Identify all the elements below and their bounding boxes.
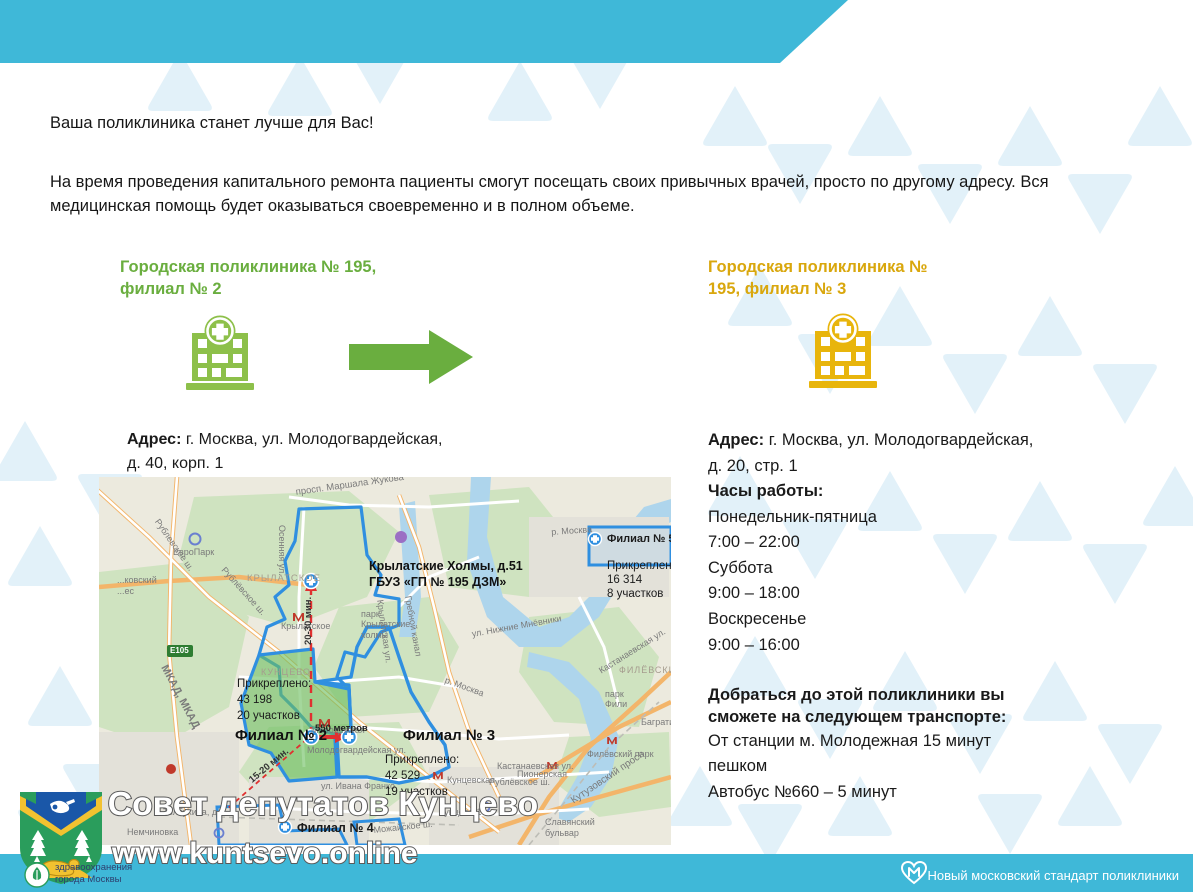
map-walk-time-main: 20-30 мин. xyxy=(303,597,314,645)
map-main-clinic-line1: Крылатские Холмы, д.51 xyxy=(369,559,523,573)
map-branch-5-areas: 8 участков xyxy=(607,587,663,602)
hours-label: Часы работы: xyxy=(708,479,1068,505)
clinic-from-title-line1: Городская поликлиника № 195, xyxy=(120,258,376,276)
clinic-to-title-line1: Городская поликлиника № xyxy=(708,258,928,276)
map-branch-5-attached-label: Прикреплено: xyxy=(607,559,671,574)
footer-label: Новый московский стандарт поликлиники xyxy=(927,868,1179,883)
map-place-europark: ЕвроПарк xyxy=(173,547,214,557)
map-branch-5-attached-count: 16 314 xyxy=(607,573,642,588)
transport-heading-line2: сможете на следующем транспорте: xyxy=(708,708,1006,726)
map-branch-3-attached-label: Прикреплено: xyxy=(385,753,459,768)
transport-line-3: Автобус №660 – 5 минут xyxy=(708,780,1068,806)
clinic-from-title-line2: филиал № 2 xyxy=(120,280,222,298)
clinic-from-title: Городская поликлиника № 195, филиал № 2 xyxy=(120,256,480,301)
hospital-icon xyxy=(180,315,260,393)
intro-text: Ваша поликлиника станет лучше для Вас! Н… xyxy=(50,112,1060,219)
hours-time-1: 7:00 – 22:00 xyxy=(708,530,1068,556)
dzm-logo-icon xyxy=(24,862,50,888)
hours-days-1: Понедельник-пятница xyxy=(708,505,1068,531)
header-bar xyxy=(0,0,844,63)
address-line-2: д. 20, стр. 1 xyxy=(708,457,798,475)
map-place-slavyansky: Славянскийбульвар xyxy=(545,817,595,839)
map-branch-3-label: Филиал № 3 xyxy=(403,727,495,744)
map-place-park-krylatskie: паркКрылатскиехолмы xyxy=(361,609,410,640)
map-place-kuntsevskaya: Кунцевская xyxy=(447,775,495,785)
dzm-caption: здравоохранения города Москвы xyxy=(55,862,132,886)
clinic-to-title: Городская поликлиника № 195, филиал № 3 xyxy=(708,256,1053,301)
heart-m-logo-icon xyxy=(901,861,927,885)
slide-root: МАРШРУТИЗАЦИЯ НА ВРЕМЯ КАПИТАЛЬНОГО РЕМО… xyxy=(0,0,1193,892)
intro-line-2: На время проведения капитального ремонта… xyxy=(50,171,1060,219)
map-main-clinic-line2: ГБУЗ «ГП № 195 ДЗМ» xyxy=(369,575,506,589)
map-place-filevsky-park: Филёвский парк xyxy=(587,749,654,759)
clinic-from-address: Адрес: г. Москва, ул. Молодогвардейская,… xyxy=(127,428,527,476)
map-branch-3-attached-count: 42 529 xyxy=(385,769,420,784)
map-road-shield-e105: E105 xyxy=(170,646,189,655)
clinic-to-address: Адрес: г. Москва, ул. Молодогвардейская,… xyxy=(708,428,1068,479)
address-label: Адрес: xyxy=(708,431,764,449)
map-place-park-fili: паркФили xyxy=(605,689,627,710)
clinic-to-icon-wrap xyxy=(803,313,1053,396)
map-branch-2-attached-label: Прикреплено: xyxy=(237,677,311,692)
map-place-filevsky-district: ФИЛЁВСКИЙ xyxy=(619,665,671,675)
transport-line-1: От станции м. Молодежная 15 минут xyxy=(708,729,1068,755)
arrow-right-icon xyxy=(349,328,473,386)
hospital-icon xyxy=(803,313,883,391)
transport-heading: Добраться до этой поликлиники вы сможете… xyxy=(708,684,1068,729)
dzm-caption-line2: города Москвы xyxy=(55,874,132,886)
map-branch-2-areas: 20 участков xyxy=(237,709,300,724)
map-distance-label: 550 метров xyxy=(315,723,368,734)
transport-block: Добраться до этой поликлиники вы сможете… xyxy=(708,684,1068,805)
transport-line-2: пешком xyxy=(708,754,1068,780)
map-branch-2-label: Филиал № 2 xyxy=(235,727,327,744)
clinic-to-details: Адрес: г. Москва, ул. Молодогвардейская,… xyxy=(708,428,1068,805)
clinic-to-block: Городская поликлиника № 195, филиал № 3 xyxy=(708,256,1053,396)
hours-time-2: 9:00 – 18:00 xyxy=(708,581,1068,607)
hours-days-3: Воскресенье xyxy=(708,607,1068,633)
hours-block: Часы работы: Понедельник-пятница 7:00 – … xyxy=(708,479,1068,658)
map-branch-2-attached-count: 43 198 xyxy=(237,693,272,708)
watermark-council: Совет депутатов Кунцево xyxy=(108,785,538,823)
address-line-1: г. Москва, ул. Молодогвардейская, xyxy=(181,431,442,448)
transport-heading-line1: Добраться до этой поликлиники вы xyxy=(708,686,1004,704)
watermark-url: www.kuntsevo.online xyxy=(112,837,418,871)
map-branch-5-label: Филиал № 5 xyxy=(607,533,671,545)
address-line-1: г. Москва, ул. Молодогвардейская, xyxy=(764,431,1033,449)
header-wedge xyxy=(780,0,900,63)
address-label: Адрес: xyxy=(127,431,181,448)
intro-line-1: Ваша поликлиника станет лучше для Вас! xyxy=(50,112,1060,136)
map-branch-4-label: Филиал № 4 xyxy=(297,821,374,835)
map-place-kuntsevo: КУНЦЕВО xyxy=(261,667,311,677)
hours-days-2: Суббота xyxy=(708,556,1068,582)
map-place-nemchinovka: Немчиновка xyxy=(127,827,178,837)
address-line-2: д. 40, корп. 1 xyxy=(127,455,223,472)
clinic-to-title-line2: 195, филиал № 3 xyxy=(708,280,846,298)
map-place-moskovsky-les: ...ковский...ес xyxy=(117,575,157,597)
map-place-bagrationovskaya: Багратионовская xyxy=(641,717,671,727)
map-place-krylatskoe-district: КРЫЛАТСКОЕ xyxy=(247,573,321,584)
map-street-osennyaya: Осенняя ул. xyxy=(277,525,287,576)
dzm-caption-line1: здравоохранения xyxy=(55,862,132,874)
map-place-pionerskaya: Пионерская xyxy=(517,769,567,779)
hours-time-3: 9:00 – 16:00 xyxy=(708,633,1068,659)
